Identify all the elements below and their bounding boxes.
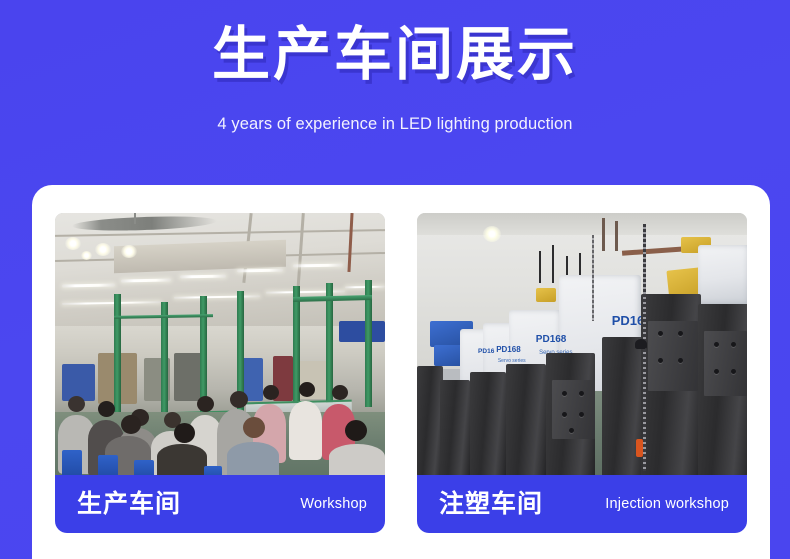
production-workshop-label-en: Workshop — [300, 494, 367, 514]
mold-bolt — [562, 391, 567, 396]
mold-block — [470, 372, 506, 482]
worker-head — [121, 415, 141, 434]
machine-label-3: PD16 — [478, 348, 494, 355]
injection-workshop-photo: PD16 PD168 Servo series PD168 Servo seri… — [417, 213, 747, 482]
page-subtitle: 4 years of experience in LED lighting pr… — [0, 112, 790, 136]
worker-head — [174, 423, 195, 443]
injection-workshop-label-en: Injection workshop — [605, 494, 729, 514]
machine-label-1b: PD168 — [536, 334, 567, 345]
content-panel: 生产车间 Workshop — [32, 185, 770, 559]
mold-bolt — [731, 342, 736, 347]
background-object — [339, 321, 385, 343]
worker-head — [230, 391, 248, 408]
page-title: 生产车间展示 — [0, 22, 790, 88]
mold-bolt — [731, 369, 736, 374]
pipe — [602, 218, 605, 250]
mold-bolt — [579, 391, 584, 396]
production-workshop-photo — [55, 213, 385, 482]
production-workshop-label-cn: 生产车间 — [77, 489, 181, 519]
worker-head — [68, 396, 85, 412]
support-post — [161, 302, 168, 420]
workshop-card-production[interactable]: 生产车间 Workshop — [55, 213, 385, 533]
support-post — [114, 294, 121, 418]
mold-block — [440, 380, 470, 482]
chain-shackle — [635, 339, 647, 349]
worker-head — [263, 385, 279, 400]
spot-lamp-icon — [95, 243, 111, 256]
workshop-card-list: 生产车间 Workshop — [55, 213, 747, 533]
background-object — [174, 353, 204, 401]
molding-machine — [698, 245, 748, 304]
spot-lamp-icon — [81, 251, 92, 260]
mold-bolt — [579, 412, 584, 417]
injection-workshop-label-cn: 注塑车间 — [439, 489, 543, 519]
injection-workshop-label-bar: 注塑车间 Injection workshop — [417, 475, 747, 533]
mold-face-plate — [704, 331, 747, 396]
mold-face-plate — [648, 321, 698, 391]
mold-bolt — [678, 358, 683, 363]
workshop-card-injection[interactable]: PD16 PD168 Servo series PD168 Servo seri… — [417, 213, 747, 533]
production-workshop-label-bar: 生产车间 Workshop — [55, 475, 385, 533]
fan-rod — [134, 213, 136, 224]
yellow-equipment — [536, 288, 556, 301]
hoist-chain — [592, 235, 594, 321]
ceiling-beam — [417, 213, 747, 235]
pipe — [615, 221, 618, 251]
antenna-rod — [539, 251, 541, 283]
mold-bolt — [714, 369, 719, 374]
mold-block — [602, 337, 645, 482]
support-post — [293, 286, 300, 415]
promo-banner: 生产车间展示 4 years of experience in LED ligh… — [0, 0, 790, 559]
mold-bolt — [569, 428, 574, 433]
fluorescent-tube — [180, 274, 226, 278]
mold-block — [506, 364, 546, 482]
antenna-rod — [552, 245, 554, 283]
worker-head — [197, 396, 214, 412]
banner-header: 生产车间展示 4 years of experience in LED ligh… — [0, 0, 790, 180]
worker-body — [289, 401, 322, 460]
lifting-hook — [636, 439, 643, 457]
machine-label-2: PD168 — [496, 345, 520, 354]
